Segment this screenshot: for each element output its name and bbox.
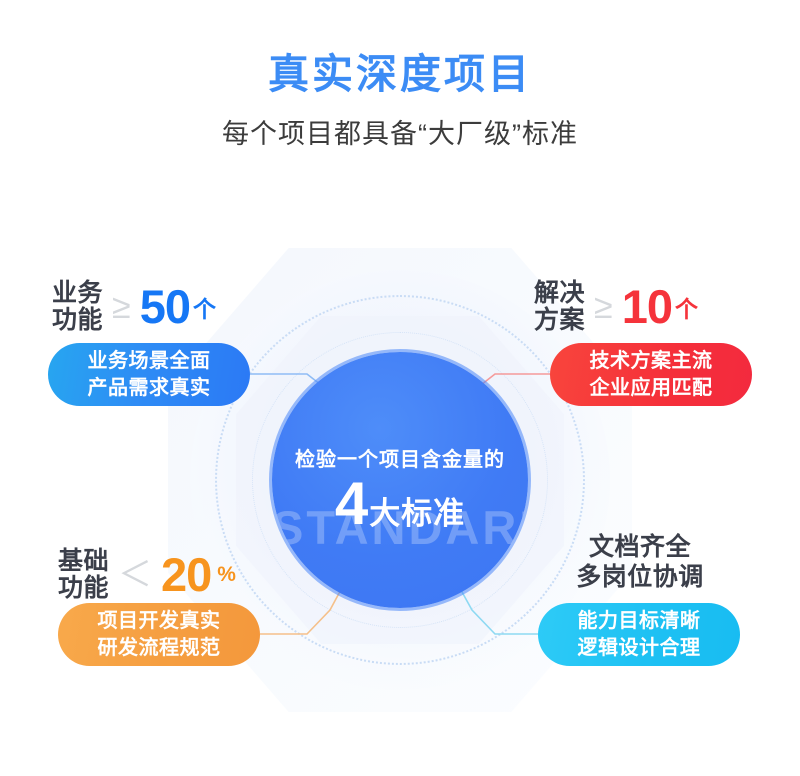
page-title: 真实深度项目 [0, 52, 800, 98]
stat-business-function-number: 50 [140, 283, 190, 330]
pill-solution-line-2: 企业应用匹配 [590, 375, 713, 401]
pill-documentation[interactable]: 能力目标清晰 逻辑设计合理 [538, 603, 740, 666]
center-headline: 4 大标准 [335, 474, 465, 534]
page-header: 真实深度项目 每个项目都具备“大厂级”标准 [0, 0, 800, 151]
page-subtitle: 每个项目都具备“大厂级”标准 [0, 112, 800, 151]
stat-solution-unit: 个 [675, 290, 698, 324]
stat-solution-name: 解决 方案 [534, 280, 585, 333]
stat-solution-operator: ≥ [594, 290, 613, 324]
pill-documentation-line-2: 逻辑设计合理 [578, 635, 701, 661]
stat-basic-function-unit: % [217, 563, 236, 587]
stat-documentation: 文档齐全 多岗位协调 [565, 533, 715, 592]
stat-name-line-2: 功能 [52, 307, 103, 334]
stat-basic-function-number: 20 [161, 551, 211, 598]
pill-business-function-line-1: 业务场景全面 [88, 348, 211, 374]
pill-solution-line-1: 技术方案主流 [590, 348, 713, 374]
stat-solution-head: 解决 方案 ≥ 10 个 [534, 280, 698, 333]
pill-business-function[interactable]: 业务场景全面 产品需求真实 [48, 343, 250, 406]
stat-business-function: 业务 功能 ≥ 50 个 [52, 280, 216, 333]
pill-business-function-line-2: 产品需求真实 [88, 375, 211, 401]
infographic-page: 真实深度项目 每个项目都具备“大厂级”标准 检验一个项目含金量的 4 大标准 S… [0, 0, 800, 776]
pill-basic-function-line-1: 项目开发真实 [98, 608, 221, 634]
stat-business-function-unit: 个 [193, 290, 216, 324]
stat-name-line-1: 基础 [58, 548, 109, 575]
stat-basic-function-operator: ＜ [118, 558, 152, 592]
stat-name-line-1: 解决 [534, 280, 585, 307]
stat-name-line-2: 方案 [534, 307, 585, 334]
stat-name-line-1: 业务 [52, 280, 103, 307]
stat-basic-function-head: 基础 功能 ＜ 20 % [58, 548, 236, 601]
pill-solution[interactable]: 技术方案主流 企业应用匹配 [550, 343, 752, 406]
stat-basic-function-name: 基础 功能 [58, 548, 109, 601]
stat-solution: 解决 方案 ≥ 10 个 [534, 280, 698, 333]
center-caption: 检验一个项目含金量的 [295, 443, 505, 472]
stat-documentation-line-2: 多岗位协调 [565, 563, 715, 593]
stat-documentation-line-1: 文档齐全 [565, 533, 715, 563]
stat-business-function-head: 业务 功能 ≥ 50 个 [52, 280, 216, 333]
pill-documentation-line-1: 能力目标清晰 [578, 608, 701, 634]
stat-name-line-2: 功能 [58, 575, 109, 602]
stat-business-function-name: 业务 功能 [52, 280, 103, 333]
pill-basic-function[interactable]: 项目开发真实 研发流程规范 [58, 603, 260, 666]
stat-basic-function: 基础 功能 ＜ 20 % [58, 548, 236, 601]
center-number: 4 [335, 474, 367, 534]
center-unit: 大标准 [369, 488, 465, 533]
pill-basic-function-line-2: 研发流程规范 [98, 635, 221, 661]
center-circle: 检验一个项目含金量的 4 大标准 STANDARD [272, 352, 528, 608]
stat-solution-number: 10 [622, 283, 672, 330]
stat-business-function-operator: ≥ [112, 290, 131, 324]
